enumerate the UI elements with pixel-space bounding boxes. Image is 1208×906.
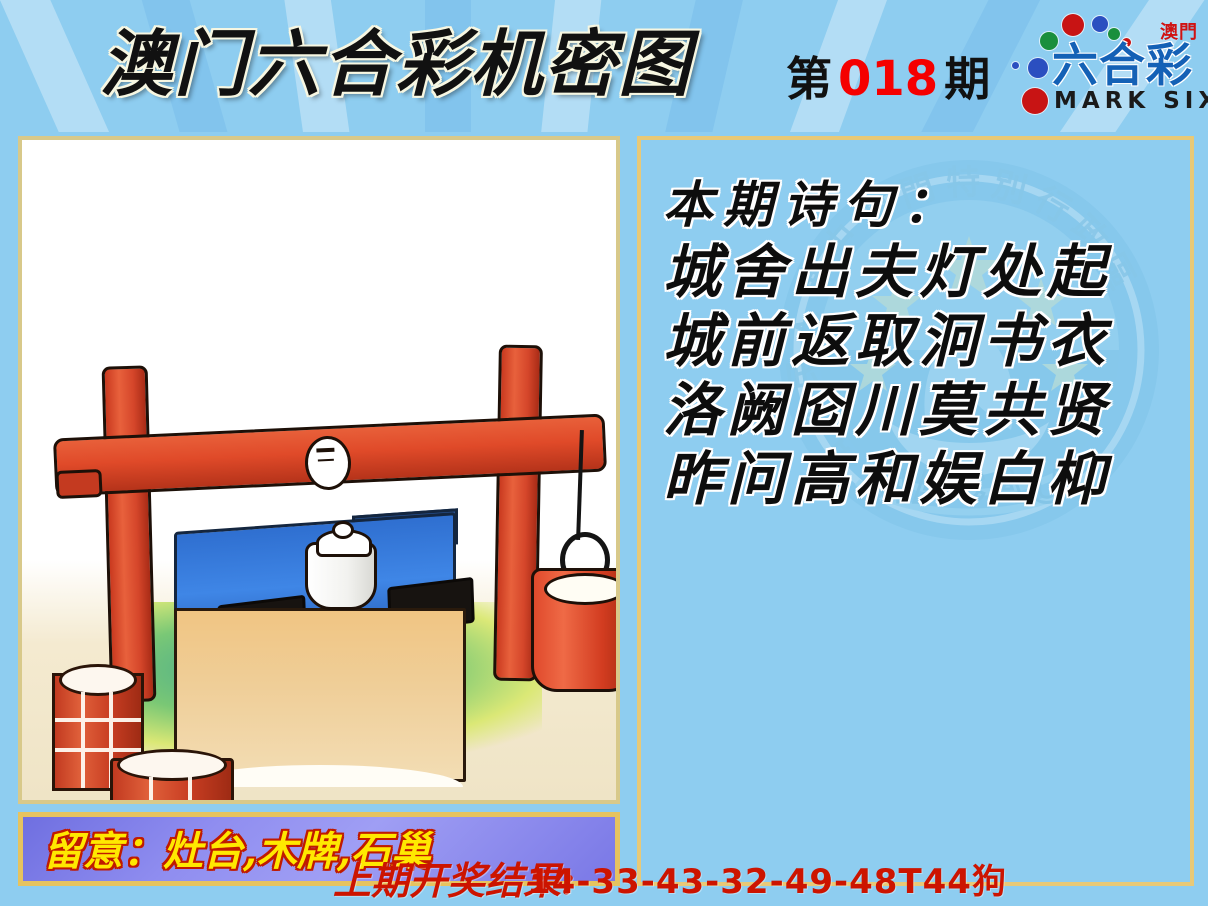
poem-line-4: 昨问高和娱白枊: [663, 445, 1183, 514]
poem-panel[interactable]: MACAU 澳 門 特 別 行 政 區 中 華 人 民 共 和 國 本期诗句： …: [637, 136, 1194, 886]
poem-block: 本期诗句： 城舍出夫灯处起 城前返取泂书衣 洛阙囵川莫共贤 昨问高和娱白枊: [663, 172, 1183, 514]
white-pot: [305, 542, 377, 610]
red-jar: [531, 568, 616, 692]
wooden-post-left: [102, 365, 157, 702]
issue-label: 第018期: [786, 52, 990, 106]
poem-title: 本期诗句：: [663, 172, 1183, 238]
brick-well-front: [110, 758, 234, 800]
last-draw-result-numbers: 14-33-43-32-49-48T44狗: [527, 862, 1007, 902]
page-title: 澳门六合彩机密图: [100, 22, 692, 106]
logo-dot-6: [1028, 58, 1048, 78]
page-header: 澳门六合彩机密图 第018期 六合彩 MARK SIX 澳門: [0, 0, 1208, 132]
issue-suffix: 期: [944, 52, 990, 106]
logo-chinese-text: 六合彩: [1052, 40, 1193, 90]
logo-dot-1: [1062, 14, 1084, 36]
logo-english-text: MARK SIX: [1054, 88, 1208, 114]
logo-region-text: 澳門: [1160, 18, 1198, 44]
logo-dot-2: [1092, 16, 1108, 32]
logo-dot-8: [1012, 62, 1019, 69]
poem-line-1: 城舍出夫灯处起: [663, 238, 1183, 307]
poem-line-3: 洛阙囵川莫共贤: [663, 376, 1183, 445]
mark-six-logo[interactable]: 六合彩 MARK SIX 澳門: [1004, 6, 1202, 122]
issue-number: 018: [832, 51, 944, 107]
illustration-panel[interactable]: [18, 136, 620, 804]
issue-prefix: 第: [786, 52, 832, 106]
logo-dot-7: [1022, 88, 1048, 114]
wooden-beam-stub: [55, 469, 102, 499]
illustration-image: [22, 140, 616, 800]
poem-line-2: 城前返取泂书衣: [663, 307, 1183, 376]
